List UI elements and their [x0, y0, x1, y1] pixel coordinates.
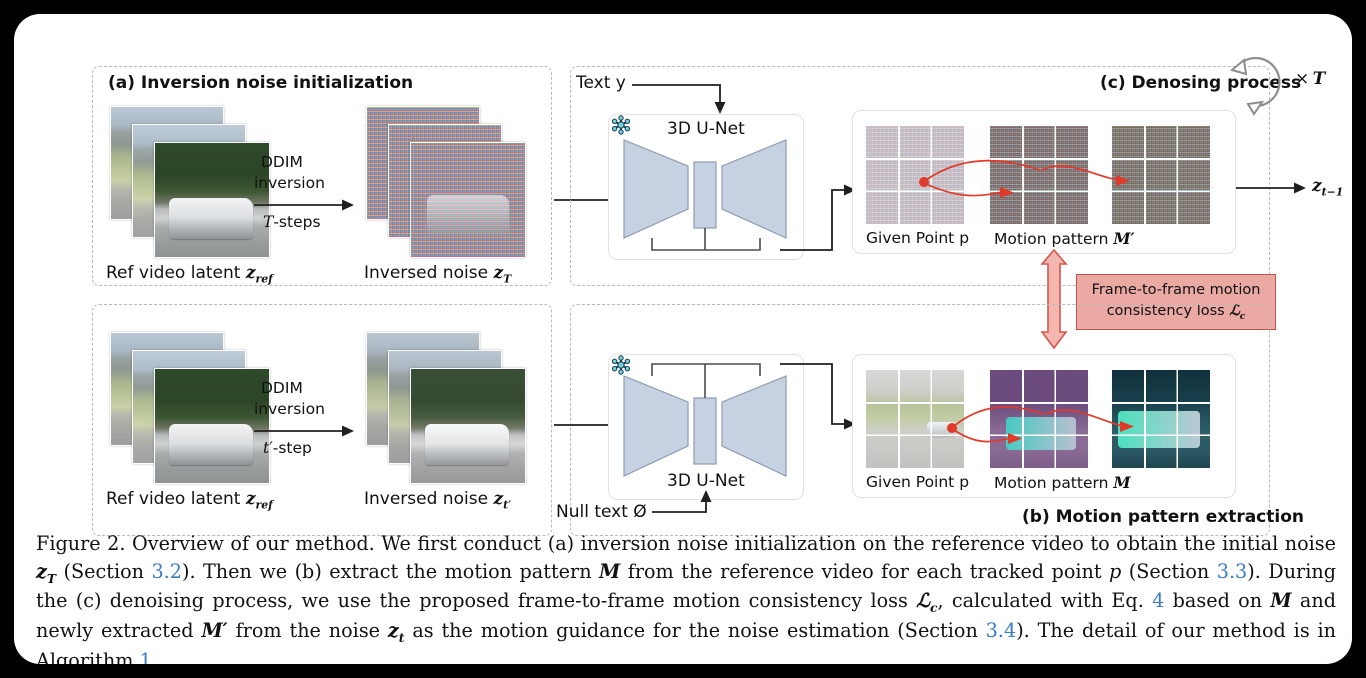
panel-a-label: (a) Inversion noise initialization [108, 74, 413, 94]
t-steps-label-top: T-steps [263, 214, 321, 232]
z-ref-symbol: zref [246, 263, 273, 283]
caption-ref-34[interactable]: 3.4 [986, 619, 1017, 642]
output-latent-label: zt−1 [1312, 177, 1343, 199]
caption-cal-M-prime: 𝑴′ [201, 619, 227, 642]
snowflake-icon-top [611, 115, 631, 135]
caption-text-5: (Section [1121, 560, 1216, 583]
caption-text-4: from the reference video for each tracke… [620, 560, 1109, 583]
given-point-text: Given Point p [866, 229, 969, 247]
caption-text-10: from the noise [228, 619, 388, 642]
caption-cal-M: 𝑴 [599, 560, 620, 583]
ref-latent-text: Ref video latent [106, 489, 240, 509]
ddim-inversion-label-bottom: inversion [254, 401, 325, 419]
caption-zT: zT [36, 560, 56, 583]
caption-text-2: (Section [56, 560, 151, 583]
caption-ref-33[interactable]: 3.3 [1217, 560, 1248, 583]
null-text-label: Null text Ø [556, 503, 647, 523]
ref-latent-text: Ref video latent [106, 263, 240, 283]
loop-arrow-icon [1230, 44, 1290, 116]
figure-diagram: (a) Inversion noise initialization Ref v… [14, 14, 1352, 524]
z-T-symbol: zT [493, 263, 511, 283]
z-t-prime-symbol: zt′ [493, 489, 511, 509]
caption-ref-32[interactable]: 3.2 [151, 560, 182, 583]
loop-count-label: × T [1295, 70, 1325, 90]
z-ref-symbol: zref [246, 489, 273, 509]
text-condition-label-top: Text y [576, 74, 626, 94]
figure-page: (a) Inversion noise initialization Ref v… [0, 0, 1366, 678]
ddim-label-bottom: DDIM [261, 380, 303, 398]
caption-text-7: , calculated with Eq. [937, 589, 1152, 612]
caption-text-8: based on [1164, 589, 1270, 612]
inversed-noise-text: Inversed noise [364, 489, 488, 509]
video-frame-3 [154, 142, 270, 258]
inversed-noise-caption-top: Inversed noise zT [364, 264, 511, 286]
video-frame-3 [154, 368, 270, 484]
ddim-inversion-label-top: inversion [254, 175, 325, 193]
caption-text-3: ). Then we (b) extract the motion patter… [182, 560, 599, 583]
loss-line-1: Frame-to-frame motion [1092, 282, 1261, 298]
inversed-noise-text: Inversed noise [364, 263, 488, 283]
motion-trajectory-top [854, 114, 1244, 234]
unet-diagram-bottom [608, 354, 804, 500]
inversed-noise-caption-bottom: Inversed noise zt′ [364, 490, 511, 512]
motion-trajectory-bottom [854, 358, 1244, 478]
ddim-label-top: DDIM [261, 154, 303, 172]
cal-M-prime: 𝑴′ [1113, 229, 1134, 248]
caption-zt: zt [388, 619, 405, 642]
t-step-label-bottom: t′-step [263, 440, 312, 458]
caption-text-1: Overview of our method. We first conduct… [132, 532, 1336, 555]
motion-pattern-label-top: Motion pattern 𝑴′ [994, 230, 1135, 249]
ref-video-latent-caption-bottom: Ref video latent zref [106, 490, 273, 512]
arrow-out-top [1236, 177, 1314, 201]
inversed-noise-stack-top [366, 106, 536, 256]
ref-video-latent-caption-top: Ref video latent zref [106, 264, 273, 286]
caption-p: p [1109, 560, 1121, 583]
figure-caption: Figure 2. Overview of our method. We fir… [36, 530, 1336, 664]
caption-text-13: . [152, 649, 158, 664]
text-y-arrow [632, 76, 742, 116]
cal-M: 𝑴 [1113, 473, 1130, 492]
caption-text-11: as the motion guidance for the noise est… [404, 619, 985, 642]
given-point-text: Given Point p [866, 473, 969, 491]
inversed-noise-stack-bottom [366, 332, 536, 482]
null-text-arrow [652, 498, 762, 522]
given-point-label-top: Given Point p [866, 230, 969, 248]
figure-card: (a) Inversion noise initialization Ref v… [14, 14, 1352, 664]
noise-frame-3 [410, 368, 526, 484]
caption-ref-alg1[interactable]: 1 [140, 649, 152, 664]
unet-diagram-top [608, 114, 804, 260]
given-point-label-bottom: Given Point p [866, 474, 969, 492]
noise-frame-3 [410, 142, 526, 258]
caption-cal-M2: 𝑴 [1270, 589, 1291, 612]
snowflake-icon-bottom [611, 355, 631, 375]
caption-figure-number: Figure 2. [36, 532, 125, 555]
motion-pattern-label-bottom: Motion pattern 𝑴 [994, 474, 1131, 493]
caption-cal-Lc: ℒc [916, 589, 937, 612]
panel-b-label: (b) Motion pattern extraction [1022, 508, 1304, 528]
caption-ref-eq4[interactable]: 4 [1152, 589, 1164, 612]
